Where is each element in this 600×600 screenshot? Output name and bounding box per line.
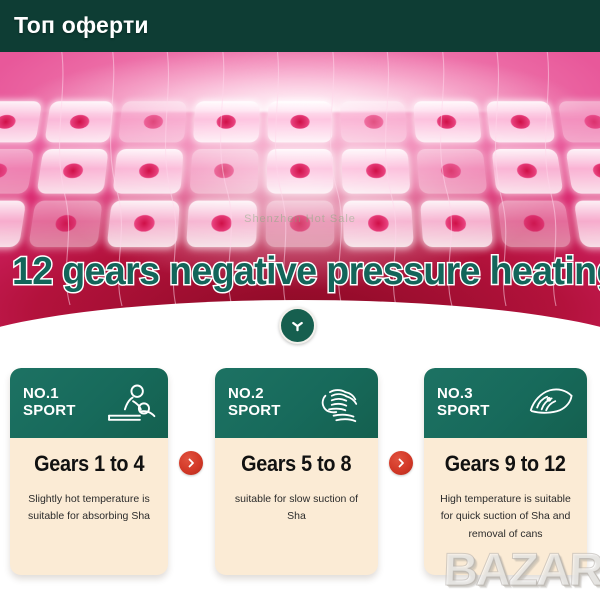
gear-card-1[interactable]: NO.1 SPORT Gears 1 to 4 Slightly hot tem…: [10, 368, 168, 575]
pinching-hand-icon: [519, 380, 577, 426]
card-number-text-3: NO.3: [437, 386, 490, 403]
hero-image: Shenzhen Hot Sale Топ оферти 12 gears ne…: [0, 0, 600, 330]
gear-card-2[interactable]: NO.2 SPORT Gears 5 to 8: [215, 368, 378, 575]
gear-card-3[interactable]: NO.3 SPORT Gears 9 to 12 High temperatur…: [424, 368, 587, 575]
card-number-text-2: NO.2: [228, 386, 281, 403]
card-title-1: Gears 1 to 4: [34, 451, 144, 477]
chevron-double-down-icon: [289, 317, 306, 334]
card-description-1: Slightly hot temperature is suitable for…: [18, 491, 160, 526]
chevron-right-icon: [185, 457, 197, 469]
card-header-1: NO.1 SPORT: [10, 368, 168, 438]
card-number-2: NO.2 SPORT: [228, 386, 281, 420]
card-body-2: Gears 5 to 8 suitable for slow suction o…: [215, 438, 378, 575]
card-number-text-1: NO.1: [23, 386, 76, 403]
card-header-2: NO.2 SPORT: [215, 368, 378, 438]
gear-cards-row: NO.1 SPORT Gears 1 to 4 Slightly hot tem…: [0, 368, 600, 578]
card-sport-text-1: SPORT: [23, 403, 76, 420]
card-body-3: Gears 9 to 12 High temperature is suitab…: [424, 438, 587, 575]
top-offer-label: Топ оферти: [14, 12, 149, 39]
photo-watermark: Shenzhen Hot Sale: [244, 213, 356, 225]
card-sport-text-2: SPORT: [228, 403, 281, 420]
chevron-right-icon: [395, 457, 407, 469]
next-step-arrow-1[interactable]: [179, 451, 203, 475]
next-step-arrow-2[interactable]: [389, 451, 413, 475]
card-title-2: Gears 5 to 8: [241, 451, 351, 477]
hero-headline: 12 gears negative pressure heating: [12, 250, 588, 294]
card-body-1: Gears 1 to 4 Slightly hot temperature is…: [10, 438, 168, 575]
card-sport-text-3: SPORT: [437, 403, 490, 420]
card-number-1: NO.1 SPORT: [23, 386, 76, 420]
fist-hand-icon: [310, 380, 368, 426]
card-title-3: Gears 9 to 12: [445, 451, 566, 477]
scroll-down-badge[interactable]: [279, 307, 316, 344]
card-description-3: High temperature is suitable for quick s…: [432, 491, 579, 543]
massage-therapy-icon: [100, 380, 158, 426]
card-description-2: suitable for slow suction of Sha: [223, 491, 370, 526]
card-number-3: NO.3 SPORT: [437, 386, 490, 420]
card-header-3: NO.3 SPORT: [424, 368, 587, 438]
